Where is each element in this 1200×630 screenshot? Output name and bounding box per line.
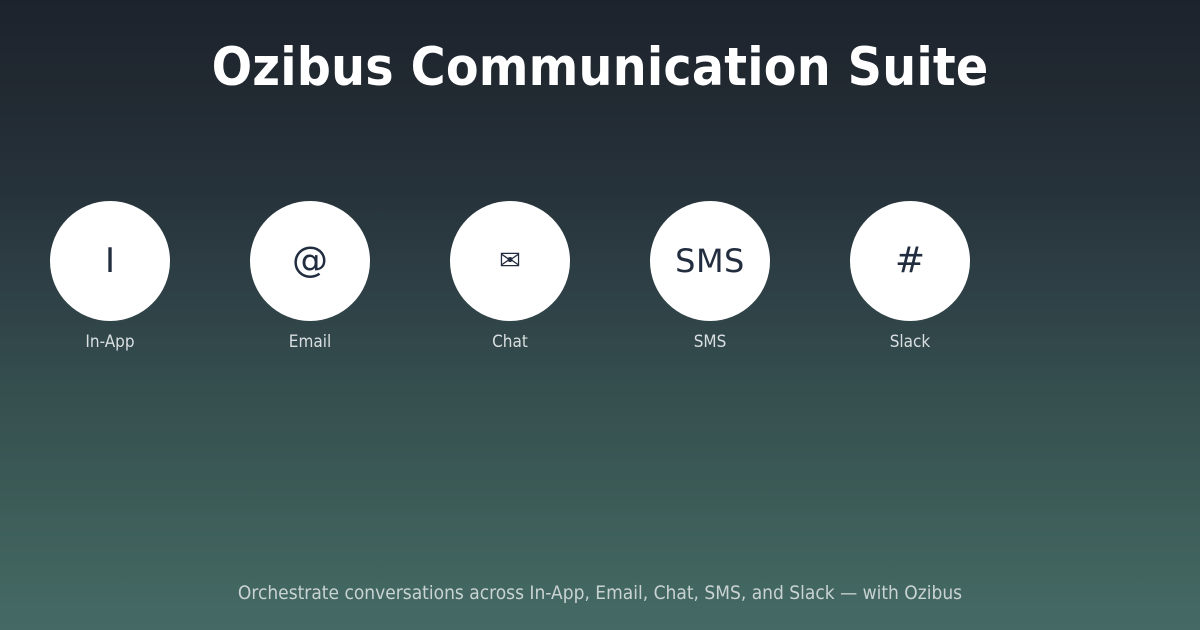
channel-label-sms: SMS <box>694 331 727 353</box>
channel-item-email[interactable]: @ Email <box>250 201 370 353</box>
page-title: Ozibus Communication Suite <box>0 32 1200 104</box>
channel-item-slack[interactable]: # Slack <box>850 201 970 353</box>
channel-list: I In-App @ Email ✉ Chat SMS SMS # <box>0 201 1200 371</box>
sms-text-icon: SMS <box>675 245 745 277</box>
channel-item-in-app[interactable]: I In-App <box>50 201 170 353</box>
channel-icon-circle-sms[interactable]: SMS <box>650 201 770 321</box>
envelope-icon: ✉ <box>499 248 521 274</box>
channel-label-email: Email <box>289 331 331 353</box>
poster-canvas: Ozibus Communication Suite I In-App @ Em… <box>0 0 1200 630</box>
channel-label-slack: Slack <box>890 331 931 353</box>
channel-icon-circle-email[interactable]: @ <box>250 201 370 321</box>
channel-icon-circle-in-app[interactable]: I <box>50 201 170 321</box>
channel-item-sms[interactable]: SMS SMS <box>650 201 770 353</box>
footer-tagline: Orchestrate conversations across In-App,… <box>0 580 1200 606</box>
channel-label-chat: Chat <box>492 331 528 353</box>
channel-icon-circle-slack[interactable]: # <box>850 201 970 321</box>
at-sign-icon: @ <box>292 243 328 279</box>
channel-label-in-app: In-App <box>85 331 134 353</box>
channel-icon-circle-chat[interactable]: ✉ <box>450 201 570 321</box>
in-app-bar-icon: I <box>105 244 115 278</box>
hash-icon: # <box>895 243 925 279</box>
channel-item-chat[interactable]: ✉ Chat <box>450 201 570 353</box>
